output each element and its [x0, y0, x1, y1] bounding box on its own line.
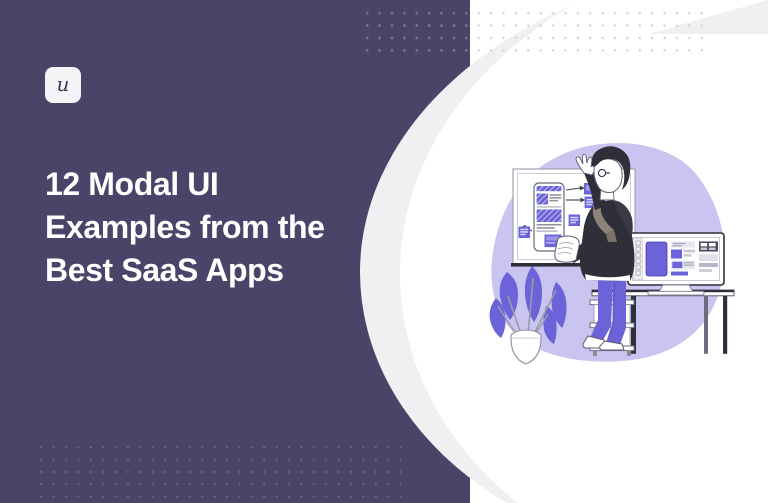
plant-pot: [511, 330, 541, 364]
brand-logo[interactable]: u: [45, 67, 81, 103]
cover-image-canvas: u 12 Modal UI Examples from the Best Saa…: [0, 0, 768, 503]
dot-grid-top-on-purple: [360, 6, 468, 58]
dot-grid-bottom: [34, 440, 402, 503]
monitor: [628, 233, 724, 295]
userpilot-u-logo-icon: u: [57, 74, 70, 94]
ux-designer-at-whiteboard-illustration: [480, 130, 742, 382]
page-title: 12 Modal UI Examples from the Best SaaS …: [45, 163, 345, 292]
